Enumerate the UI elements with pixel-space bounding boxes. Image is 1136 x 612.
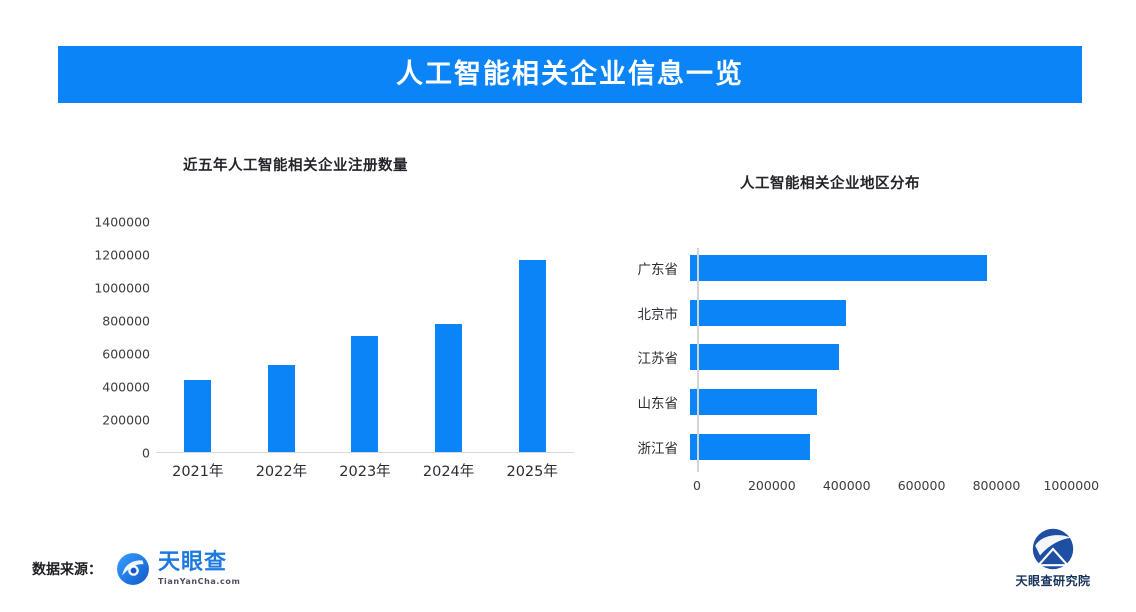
bar (351, 336, 378, 453)
y-axis-tick-label: 400000 (102, 380, 150, 395)
region-label: 山东省 (620, 392, 690, 412)
tianyancha-logo: 天眼查 TianYanCha.com (116, 552, 240, 586)
bar (690, 344, 839, 370)
bar-row: 北京市 (620, 291, 1090, 336)
bar-column (323, 222, 407, 453)
institute-emblem-icon (1026, 528, 1080, 570)
x-axis-tick-label: 600000 (898, 478, 946, 493)
horizontal-bar-series: 广东省北京市江苏省山东省浙江省 (620, 246, 1090, 469)
y-axis-tick-labels: 0200000400000600000800000100000012000001… (84, 222, 150, 453)
data-source: 数据来源： 天眼查 TianYanCha.com (32, 552, 240, 586)
region-label: 浙江省 (620, 437, 690, 457)
bar-track (690, 335, 1090, 380)
x-axis-tick-labels: 02000004000006000008000001000000 (697, 478, 1090, 498)
bar (435, 324, 462, 453)
logo-wordmark: 天眼查 TianYanCha.com (158, 552, 240, 586)
region-label: 北京市 (620, 303, 690, 323)
region-label: 广东省 (620, 258, 690, 278)
bar (519, 260, 546, 453)
x-axis-tick-label: 0 (693, 478, 701, 493)
institute-badge: 天眼查研究院 (1005, 528, 1101, 589)
x-axis-tick-label: 400000 (823, 478, 871, 493)
bar-row: 山东省 (620, 380, 1090, 425)
infographic-page: 人工智能相关企业信息一览 近五年人工智能相关企业注册数量 人工智能相关企业地区分… (0, 0, 1136, 612)
bar-row: 江苏省 (620, 335, 1090, 380)
x-axis-category-label: 2023年 (323, 460, 407, 481)
bar (268, 365, 295, 453)
bar (690, 389, 817, 415)
bar (690, 255, 987, 281)
x-axis-line (156, 452, 574, 453)
bar-track (690, 246, 1090, 291)
registrations-bar-chart: 0200000400000600000800000100000012000001… (84, 222, 574, 497)
x-axis-category-label: 2025年 (490, 460, 574, 481)
x-axis-tick-label: 200000 (748, 478, 796, 493)
region-label: 江苏省 (620, 347, 690, 367)
x-axis-category-labels: 2021年2022年2023年2024年2025年 (156, 460, 574, 481)
y-axis-tick-label: 0 (142, 446, 150, 461)
x-axis-category-label: 2022年 (240, 460, 324, 481)
bar-row: 浙江省 (620, 424, 1090, 469)
page-title: 人工智能相关企业信息一览 (396, 61, 744, 88)
x-axis-tick-label: 1000000 (1043, 478, 1099, 493)
bar-series (156, 222, 574, 453)
eye-circle-icon (116, 552, 150, 586)
bar-row: 广东省 (620, 246, 1090, 291)
bar-track (690, 380, 1090, 425)
left-chart-title: 近五年人工智能相关企业注册数量 (183, 154, 408, 175)
data-source-label: 数据来源： (32, 559, 102, 579)
bar-track (690, 291, 1090, 336)
bar-column (407, 222, 491, 453)
bar (184, 380, 211, 453)
y-axis-tick-label: 1200000 (94, 248, 150, 263)
bar-column (490, 222, 574, 453)
header-banner: 人工智能相关企业信息一览 (58, 46, 1082, 103)
bar (690, 300, 846, 326)
y-axis-tick-label: 200000 (102, 413, 150, 428)
y-axis-tick-label: 1000000 (94, 281, 150, 296)
y-axis-tick-label: 1400000 (94, 215, 150, 230)
y-axis-tick-label: 600000 (102, 347, 150, 362)
bar (690, 434, 810, 460)
right-chart-title: 人工智能相关企业地区分布 (740, 172, 920, 193)
bar-column (240, 222, 324, 453)
y-axis-line (697, 248, 699, 472)
logo-domain: TianYanCha.com (158, 577, 240, 586)
bar-track (690, 424, 1090, 469)
bar-column (156, 222, 240, 453)
logo-name: 天眼查 (158, 552, 240, 574)
region-distribution-bar-chart: 广东省北京市江苏省山东省浙江省 020000040000060000080000… (620, 246, 1090, 506)
institute-name: 天眼查研究院 (1015, 572, 1090, 589)
x-axis-tick-label: 800000 (973, 478, 1021, 493)
x-axis-category-label: 2024年 (407, 460, 491, 481)
left-chart-plot-area (156, 222, 574, 453)
y-axis-tick-label: 800000 (102, 314, 150, 329)
x-axis-category-label: 2021年 (156, 460, 240, 481)
